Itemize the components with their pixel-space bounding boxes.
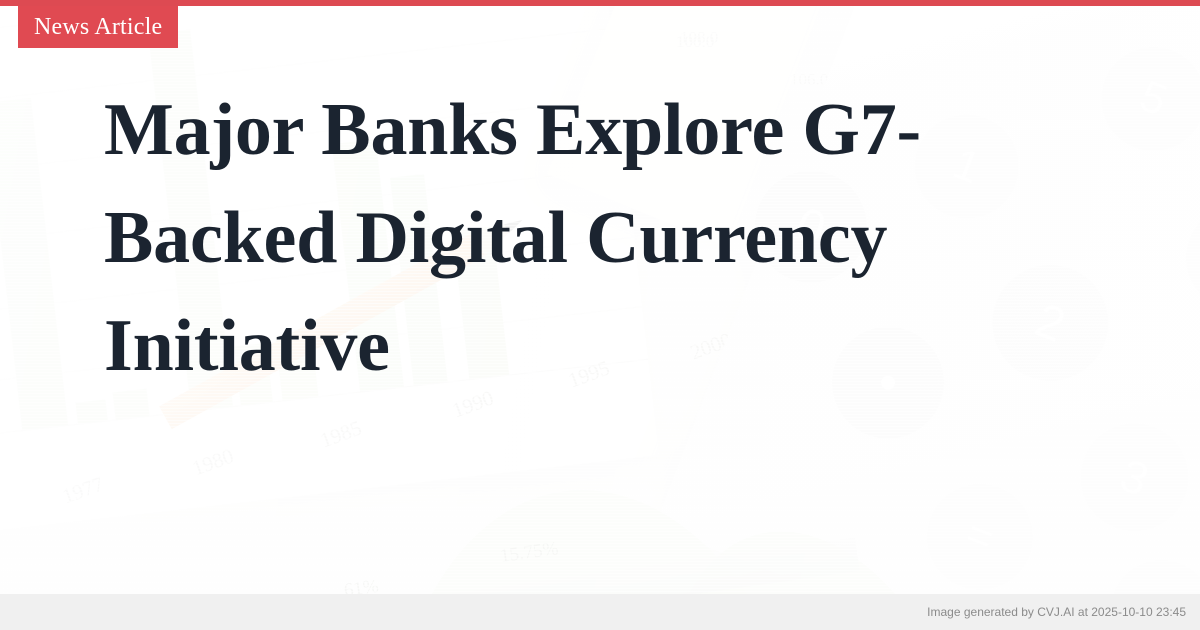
top-accent-bar <box>0 0 1200 6</box>
page-title: Major Banks Explore G7-Backed Digital Cu… <box>104 76 1094 400</box>
attribution-text: Image generated by CVJ.AI at 2025-10-10 … <box>927 605 1200 619</box>
news-article-card: 1977 1980 1985 1990 1995 2000 108.0 106.… <box>0 0 1200 630</box>
category-badge: News Article <box>18 6 178 48</box>
footer-bar: Image generated by CVJ.AI at 2025-10-10 … <box>0 594 1200 630</box>
